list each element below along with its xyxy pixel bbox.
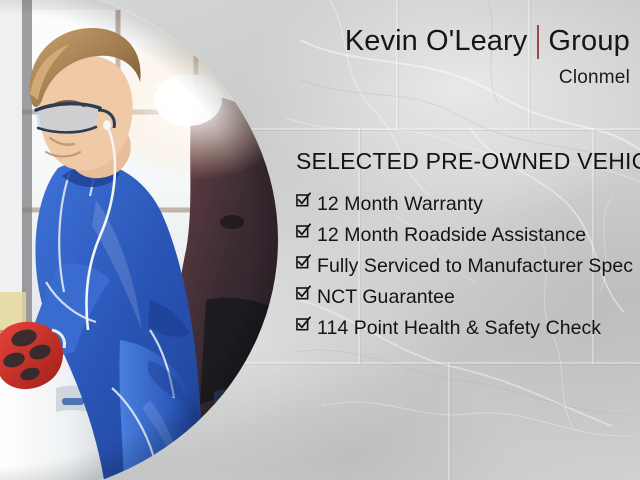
brand-name: Kevin O'Leary: [345, 27, 528, 56]
checked-box-icon: [296, 188, 310, 210]
checked-box-icon: [296, 312, 310, 334]
list-item: 12 Month Roadside Assistance: [296, 219, 633, 250]
feature-label: 12 Month Roadside Assistance: [317, 220, 586, 250]
checked-box-icon: [296, 281, 310, 303]
feature-label: 114 Point Health & Safety Check: [317, 313, 601, 343]
brand-group: Group: [548, 27, 630, 56]
list-item: 12 Month Warranty: [296, 188, 633, 219]
checked-box-icon: [296, 219, 310, 241]
feature-label: NCT Guarantee: [317, 282, 455, 312]
logo-divider: [537, 25, 539, 59]
checked-box-icon: [296, 250, 310, 272]
brand-logo: Kevin O'Leary Group Clonmel: [300, 24, 630, 89]
promo-banner: Kevin O'Leary Group Clonmel SELECTED PRE…: [0, 0, 640, 480]
brand-location: Clonmel: [300, 67, 630, 89]
list-item: 114 Point Health & Safety Check: [296, 312, 633, 343]
feature-list: 12 Month Warranty 12 Month Roadside Assi…: [296, 188, 633, 343]
list-item: Fully Serviced to Manufacturer Spec: [296, 250, 633, 281]
feature-label: 12 Month Warranty: [317, 189, 483, 219]
page-title: SELECTED PRE-OWNED VEHICLES: [296, 148, 640, 175]
feature-label: Fully Serviced to Manufacturer Spec: [317, 251, 633, 281]
list-item: NCT Guarantee: [296, 281, 633, 312]
